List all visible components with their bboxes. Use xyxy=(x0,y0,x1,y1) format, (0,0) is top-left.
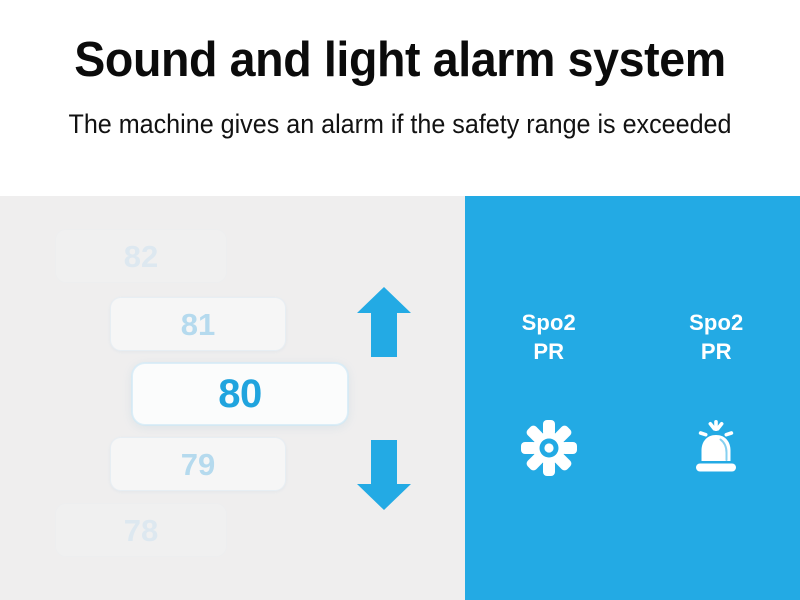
value-picker-option-label: 78 xyxy=(124,515,158,546)
value-picker-option-label: 81 xyxy=(181,309,215,340)
page-title: Sound and light alarm system xyxy=(20,34,780,87)
metric-label-settings: Spo2 PR xyxy=(465,308,633,367)
metric-label-line1: Spo2 xyxy=(522,310,576,335)
metrics-columns: Spo2 PR xyxy=(465,196,800,600)
arrow-down-icon xyxy=(357,440,411,510)
siren-alarm-icon xyxy=(687,420,745,476)
metric-label-line2: PR xyxy=(633,337,800,366)
value-picker-selected-label: 80 xyxy=(218,374,262,414)
settings-icon-wrap[interactable] xyxy=(465,420,633,476)
metric-column-settings[interactable]: Spo2 PR xyxy=(465,196,633,600)
value-picker-option-far-below[interactable]: 78 xyxy=(55,503,227,557)
header: Sound and light alarm system The machine… xyxy=(0,0,800,196)
value-picker-option-far-above[interactable]: 82 xyxy=(55,229,227,283)
metric-label-line2: PR xyxy=(465,337,633,366)
value-picker-panel: 82 81 80 79 78 xyxy=(0,196,465,600)
screen-root: Sound and light alarm system The machine… xyxy=(0,0,800,600)
value-picker-option-below[interactable]: 79 xyxy=(110,437,286,491)
metrics-panel: Spo2 PR xyxy=(465,196,800,600)
value-picker-option-above[interactable]: 81 xyxy=(110,297,286,351)
metric-column-alarm[interactable]: Spo2 PR xyxy=(633,196,800,600)
value-picker-wheel[interactable]: 82 81 80 79 78 xyxy=(0,196,360,600)
alarm-icon-wrap[interactable] xyxy=(633,420,800,476)
gear-icon xyxy=(521,420,577,476)
value-picker-selected-option[interactable]: 80 xyxy=(132,363,348,425)
increase-value-button[interactable] xyxy=(357,287,411,357)
decrease-value-button[interactable] xyxy=(357,440,411,510)
page-subtitle: The machine gives an alarm if the safety… xyxy=(28,108,772,140)
metric-label-line1: Spo2 xyxy=(689,310,743,335)
metric-label-alarm: Spo2 PR xyxy=(633,308,800,367)
value-picker-option-label: 82 xyxy=(124,241,158,272)
value-picker-option-label: 79 xyxy=(181,449,215,480)
arrow-up-icon xyxy=(357,287,411,357)
